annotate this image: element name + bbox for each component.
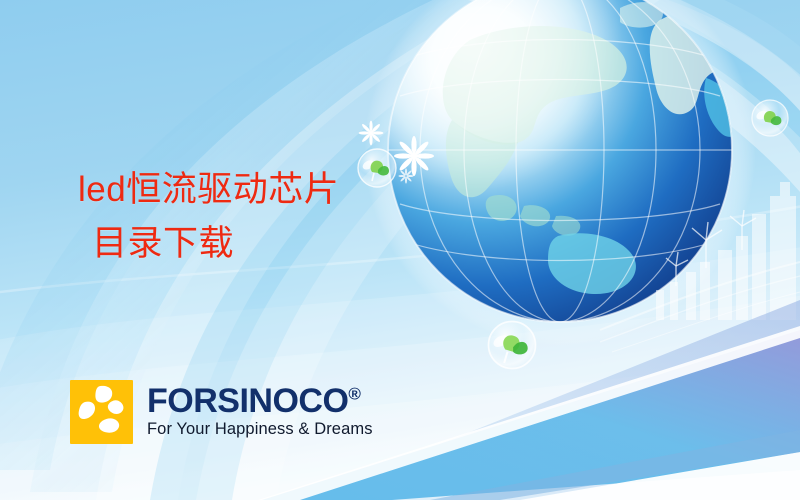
logo-company-name: FORSINOCO® bbox=[147, 384, 373, 419]
headline: led恒流驱动芯片 目录下载 bbox=[78, 163, 339, 272]
registered-trademark-symbol: ® bbox=[348, 385, 360, 404]
promo-banner: led恒流驱动芯片 目录下载 FORSINOCO® For Your Happi… bbox=[0, 0, 800, 500]
headline-line-2: 目录下载 bbox=[78, 217, 339, 271]
headline-line-1: led恒流驱动芯片 bbox=[78, 163, 339, 217]
logo-tagline: For Your Happiness & Dreams bbox=[147, 420, 373, 440]
logo-name-text: FORSINOCO bbox=[147, 382, 348, 420]
logo-wordmark: FORSINOCO® For Your Happiness & Dreams bbox=[147, 384, 373, 439]
brand-logo: FORSINOCO® For Your Happiness & Dreams bbox=[70, 380, 373, 444]
pinwheel-logo-icon bbox=[70, 380, 133, 444]
